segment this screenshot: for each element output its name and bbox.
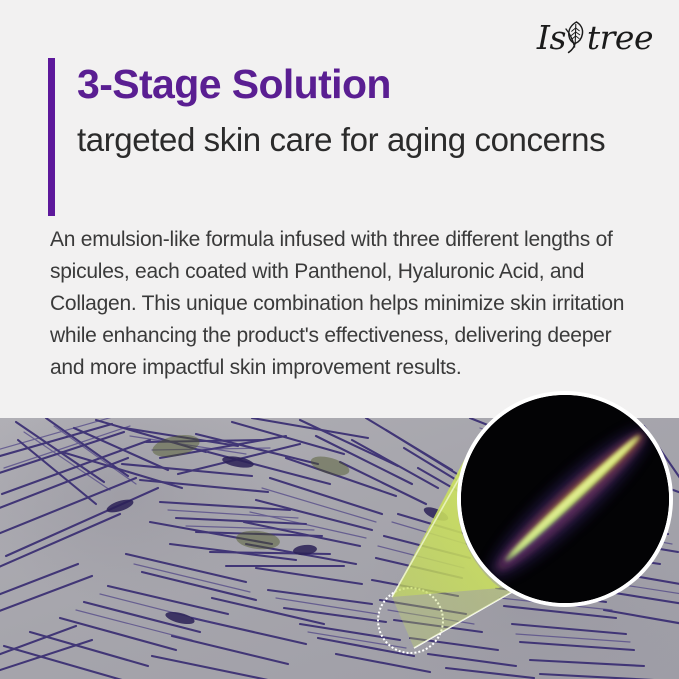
body-paragraph: An emulsion-like formula infused with th… <box>50 224 650 384</box>
magnifier-content <box>461 395 669 603</box>
brand-logo-prefix: Is <box>537 21 566 54</box>
brand-logo-suffix: tree <box>587 21 653 54</box>
magnifier-circle <box>457 391 673 607</box>
page-title: 3-Stage Solution <box>77 63 391 106</box>
locator-circle <box>377 587 444 654</box>
product-info-card: Is tree 3-Stage Solution targeted skin c… <box>0 0 679 679</box>
accent-bar <box>48 58 55 216</box>
brand-logo: Is tree <box>537 14 653 60</box>
leaf-icon <box>563 20 589 54</box>
page-subtitle: targeted skin care for aging concerns <box>77 118 607 162</box>
text-section: Is tree 3-Stage Solution targeted skin c… <box>0 0 679 418</box>
